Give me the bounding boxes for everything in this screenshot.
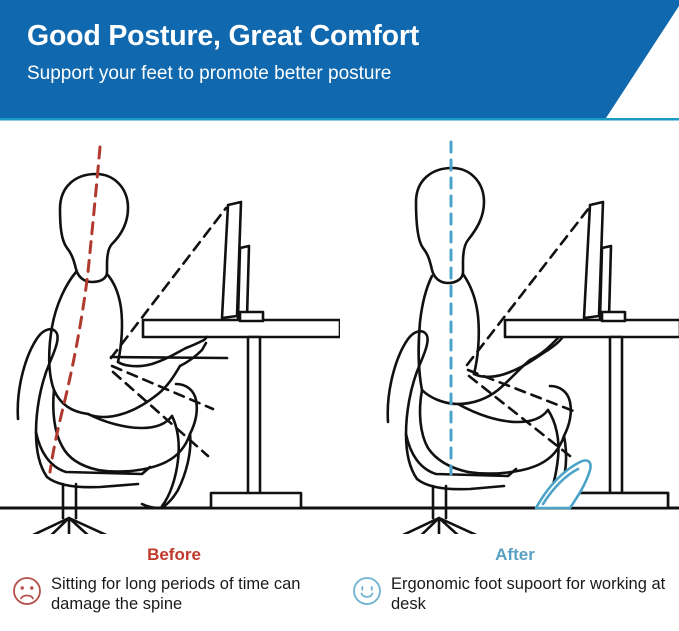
desk — [143, 320, 340, 508]
happy-face-icon — [352, 576, 382, 606]
before-label: Before — [0, 546, 340, 563]
header-banner: Good Posture, Great Comfort Support your… — [0, 0, 679, 122]
office-chair — [3, 329, 150, 534]
before-description: Sitting for long periods of time can dam… — [51, 574, 336, 614]
after-caption-column: After Ergonomic foot supoort for working… — [340, 534, 679, 631]
office-chair — [373, 331, 516, 534]
before-illustration — [0, 122, 340, 534]
caption-area: Before Sitting for long periods of time … — [0, 534, 679, 631]
person-slouched — [49, 174, 207, 508]
after-caption-body: Ergonomic foot supoort for working at de… — [352, 574, 676, 614]
after-label: After — [340, 546, 679, 563]
sad-face-icon — [12, 576, 42, 606]
before-caption-column: Before Sitting for long periods of time … — [0, 534, 340, 631]
page-subtitle: Support your feet to promote better post… — [27, 63, 587, 86]
monitor — [584, 202, 625, 321]
illustration-area — [0, 122, 679, 534]
after-illustration — [340, 122, 679, 534]
page-title: Good Posture, Great Comfort — [27, 20, 587, 53]
footrest-base — [568, 493, 668, 508]
desk — [505, 320, 679, 508]
after-scene-svg — [340, 122, 679, 534]
header-text-group: Good Posture, Great Comfort Support your… — [27, 20, 587, 86]
monitor — [222, 202, 263, 321]
before-caption-body: Sitting for long periods of time can dam… — [12, 574, 336, 614]
before-scene-svg — [0, 122, 340, 534]
infographic-page: Good Posture, Great Comfort Support your… — [0, 0, 679, 631]
after-description: Ergonomic foot supoort for working at de… — [391, 574, 676, 614]
